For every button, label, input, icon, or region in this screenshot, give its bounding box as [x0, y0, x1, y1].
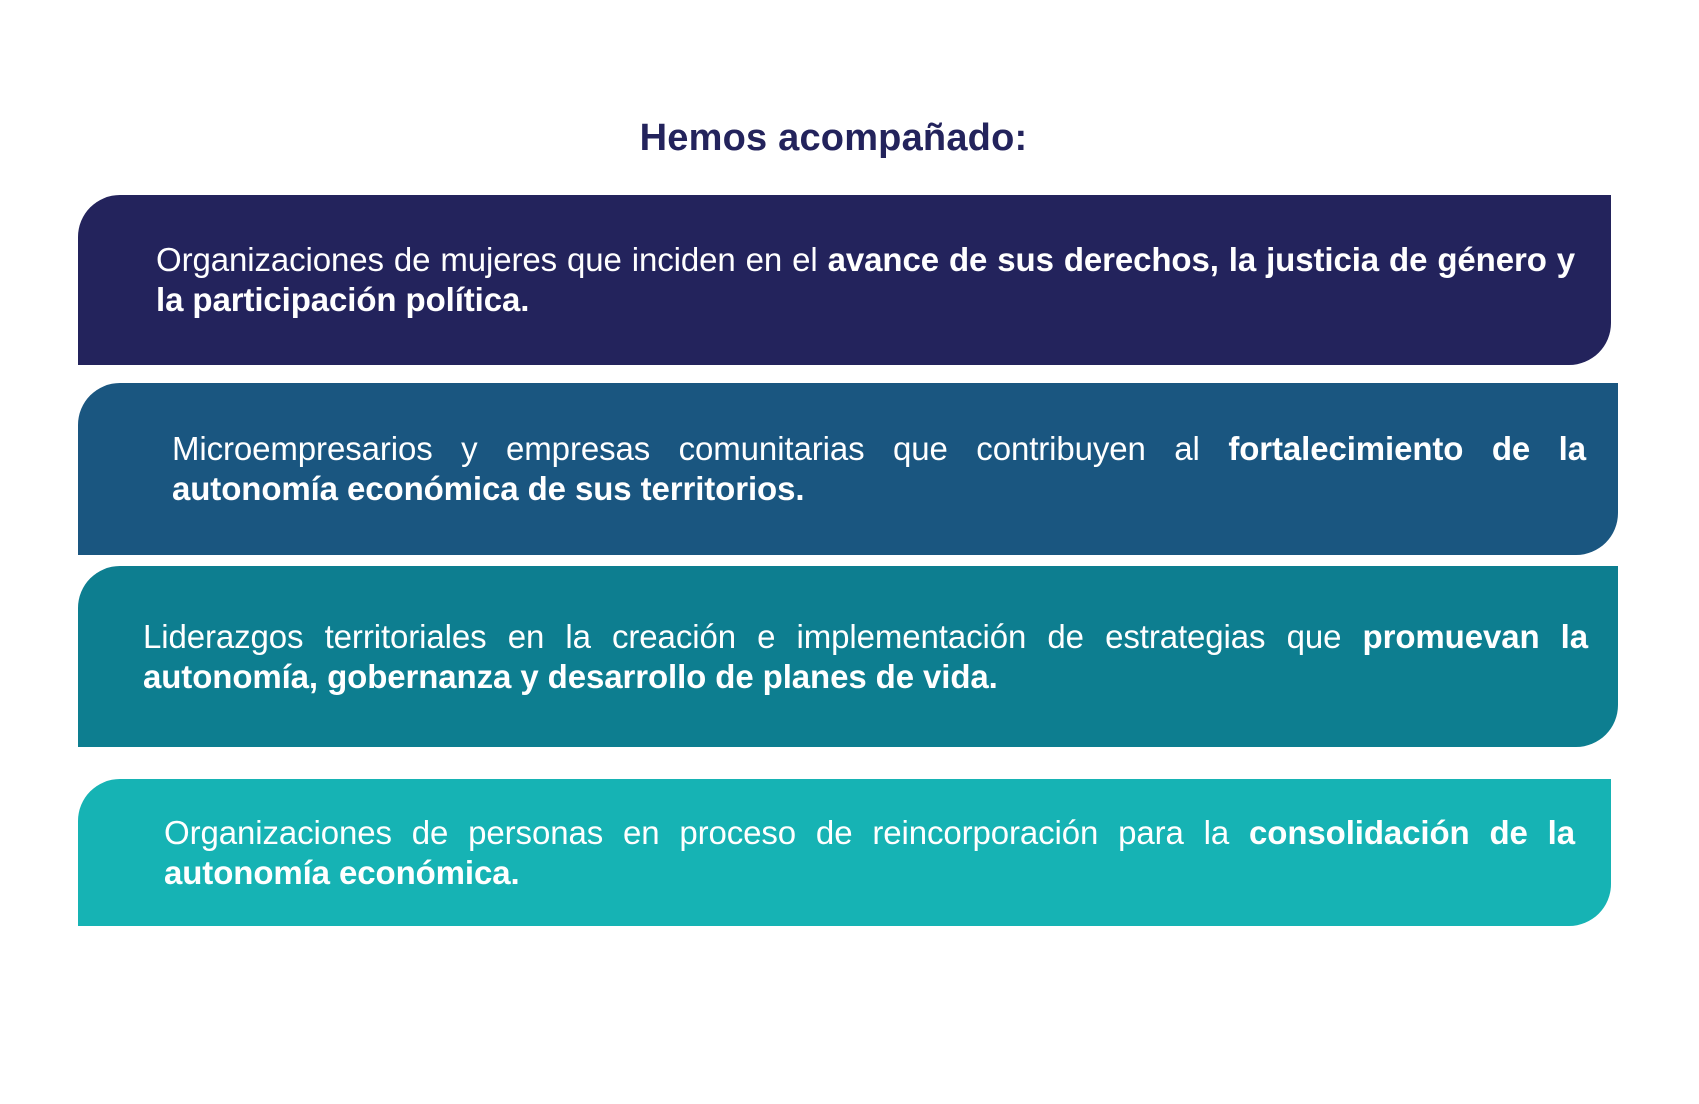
card-3-text: Liderazgos territoriales en la creación …	[143, 617, 1588, 696]
card-4-regular: Organizaciones de personas en proceso de…	[164, 814, 1249, 851]
slide-canvas: Hemos acompañado: Organizaciones de muje…	[0, 0, 1699, 1104]
page-title-text: Hemos acompañado:	[640, 117, 1028, 160]
page-title: Hemos acompañado:	[0, 117, 1699, 160]
accompaniment-card-1: Organizaciones de mujeres que inciden en…	[78, 195, 1611, 365]
card-2-text: Microempresarios y empresas comunitarias…	[172, 429, 1586, 508]
card-1-text: Organizaciones de mujeres que inciden en…	[156, 240, 1575, 319]
card-1-regular: Organizaciones de mujeres que inciden en…	[156, 241, 828, 278]
accompaniment-card-2: Microempresarios y empresas comunitarias…	[78, 383, 1618, 555]
card-4-text: Organizaciones de personas en proceso de…	[164, 813, 1575, 892]
card-2-regular: Microempresarios y empresas comunitarias…	[172, 430, 1228, 467]
accompaniment-card-3: Liderazgos territoriales en la creación …	[78, 566, 1618, 747]
accompaniment-card-4: Organizaciones de personas en proceso de…	[78, 779, 1611, 926]
card-3-regular: Liderazgos territoriales en la creación …	[143, 618, 1363, 655]
